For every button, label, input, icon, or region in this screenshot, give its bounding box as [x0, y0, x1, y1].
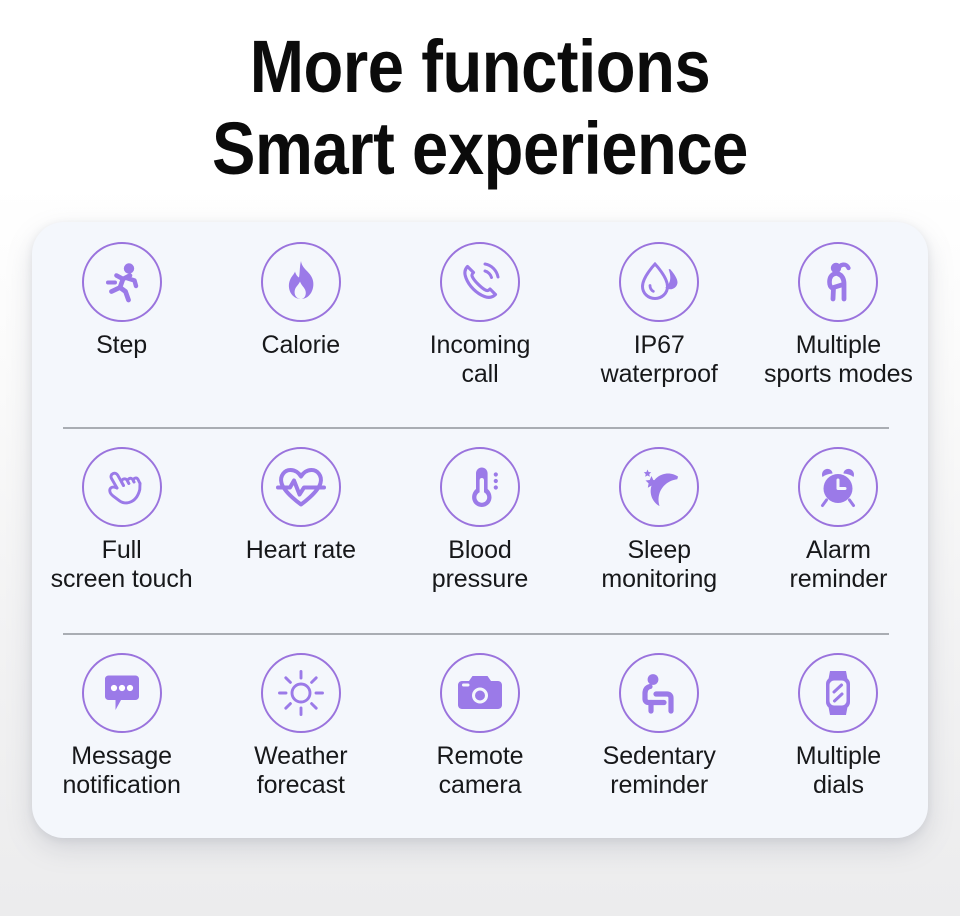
- feature-label: Multiple sports modes: [764, 331, 913, 389]
- incoming-call-icon: [440, 242, 520, 322]
- feature-label: Incoming call: [430, 331, 531, 389]
- heart-pulse-icon: [261, 447, 341, 527]
- feature-label: Step: [96, 331, 147, 360]
- feature-label: Sleep monitoring: [601, 536, 717, 594]
- page-title-line-2: Smart experience: [58, 108, 903, 190]
- page-title-line-1: More functions: [58, 26, 903, 108]
- feature-label: Blood pressure: [432, 536, 528, 594]
- feature-item-remote-camera[interactable]: Remote camera: [390, 653, 569, 800]
- water-drop-icon: [619, 242, 699, 322]
- feature-label: Sedentary reminder: [603, 742, 716, 800]
- feature-item-heart-rate[interactable]: Heart rate: [211, 447, 390, 565]
- features-row: Full screen touch Heart rate: [32, 427, 928, 632]
- feature-item-multiple-dials[interactable]: Multiple dials: [749, 653, 928, 800]
- alarm-clock-icon: [798, 447, 878, 527]
- feature-item-sports-modes[interactable]: Multiple sports modes: [749, 242, 928, 389]
- sun-icon: [261, 653, 341, 733]
- features-grid: Step Calorie: [32, 222, 928, 838]
- features-row: Step Calorie: [32, 222, 928, 427]
- chat-bubble-icon: [82, 653, 162, 733]
- features-row: Message notification: [32, 633, 928, 838]
- feature-item-waterproof[interactable]: IP67 waterproof: [570, 242, 749, 389]
- flame-icon: [261, 242, 341, 322]
- feature-item-message-notification[interactable]: Message notification: [32, 653, 211, 800]
- feature-item-blood-pressure[interactable]: Blood pressure: [390, 447, 569, 594]
- feature-label: Calorie: [262, 331, 341, 360]
- feature-label: Message notification: [62, 742, 180, 800]
- feature-label: Alarm reminder: [789, 536, 887, 594]
- feature-item-full-screen-touch[interactable]: Full screen touch: [32, 447, 211, 594]
- feature-highlight-page: More functions Smart experience: [0, 0, 960, 916]
- feature-item-alarm-reminder[interactable]: Alarm reminder: [749, 447, 928, 594]
- feature-item-calorie[interactable]: Calorie: [211, 242, 390, 360]
- thermometer-icon: [440, 447, 520, 527]
- stretching-person-icon: [798, 242, 878, 322]
- feature-item-sleep-monitoring[interactable]: Sleep monitoring: [570, 447, 749, 594]
- camera-icon: [440, 653, 520, 733]
- running-person-icon: [82, 242, 162, 322]
- feature-item-weather-forecast[interactable]: Weather forecast: [211, 653, 390, 800]
- seated-person-icon: [619, 653, 699, 733]
- features-card: Step Calorie: [32, 222, 928, 838]
- feature-label: Remote camera: [437, 742, 524, 800]
- feature-label: IP67 waterproof: [601, 331, 718, 389]
- feature-label: Full screen touch: [51, 536, 193, 594]
- feature-label: Heart rate: [246, 536, 356, 565]
- smartwatch-icon: [798, 653, 878, 733]
- feature-item-incoming-call[interactable]: Incoming call: [390, 242, 569, 389]
- page-title: More functions Smart experience: [58, 26, 903, 190]
- moon-stars-icon: [619, 447, 699, 527]
- touch-hand-icon: [82, 447, 162, 527]
- feature-label: Multiple dials: [796, 742, 881, 800]
- feature-item-sedentary-reminder[interactable]: Sedentary reminder: [570, 653, 749, 800]
- feature-label: Weather forecast: [254, 742, 347, 800]
- feature-item-step[interactable]: Step: [32, 242, 211, 360]
